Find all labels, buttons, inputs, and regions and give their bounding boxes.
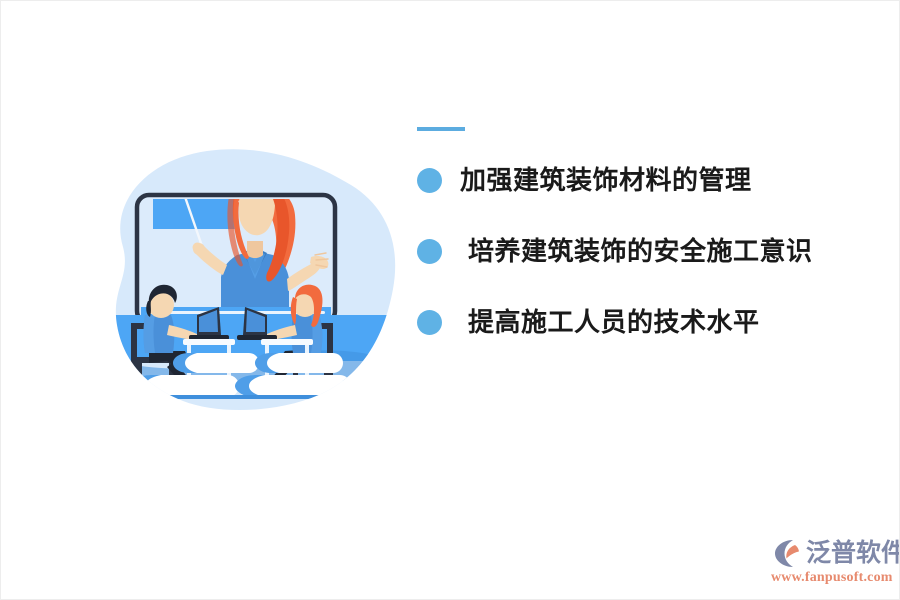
- list-item: 提高施工人员的技术水平: [417, 307, 887, 338]
- bullet-label: 加强建筑装饰材料的管理: [460, 165, 752, 196]
- brand-logo: 泛普软件 www.fanpusoft.com: [771, 537, 891, 595]
- brand-logo-row: 泛普软件: [771, 537, 891, 569]
- slide-canvas: 加强建筑装饰材料的管理 培养建筑装饰的安全施工意识 提高施工人员的技术水平 泛普: [0, 0, 900, 600]
- book-lower-right: [235, 375, 351, 399]
- fanpusoft-logo-mark-icon: [771, 537, 803, 569]
- content-panel: 加强建筑装饰材料的管理 培养建筑装饰的安全施工意识 提高施工人员的技术水平: [417, 127, 887, 339]
- bullet-dot-icon: [417, 310, 442, 335]
- list-item: 培养建筑装饰的安全施工意识: [417, 236, 887, 267]
- list-item: 加强建筑装饰材料的管理: [417, 165, 887, 196]
- bullet-label: 提高施工人员的技术水平: [468, 307, 760, 338]
- book-upper-right: [255, 353, 343, 373]
- bullet-dot-icon: [417, 168, 442, 193]
- bullet-label: 培养建筑装饰的安全施工意识: [468, 236, 813, 267]
- brand-url: www.fanpusoft.com: [771, 570, 891, 586]
- bullet-list: 加强建筑装饰材料的管理 培养建筑装饰的安全施工意识 提高施工人员的技术水平: [417, 165, 887, 339]
- accent-rule: [417, 127, 465, 131]
- brand-name: 泛普软件: [806, 538, 900, 568]
- bullet-dot-icon: [417, 239, 442, 264]
- book-upper-left: [173, 353, 259, 373]
- online-classroom-illustration: [79, 129, 419, 429]
- book-lower-left: [131, 375, 239, 399]
